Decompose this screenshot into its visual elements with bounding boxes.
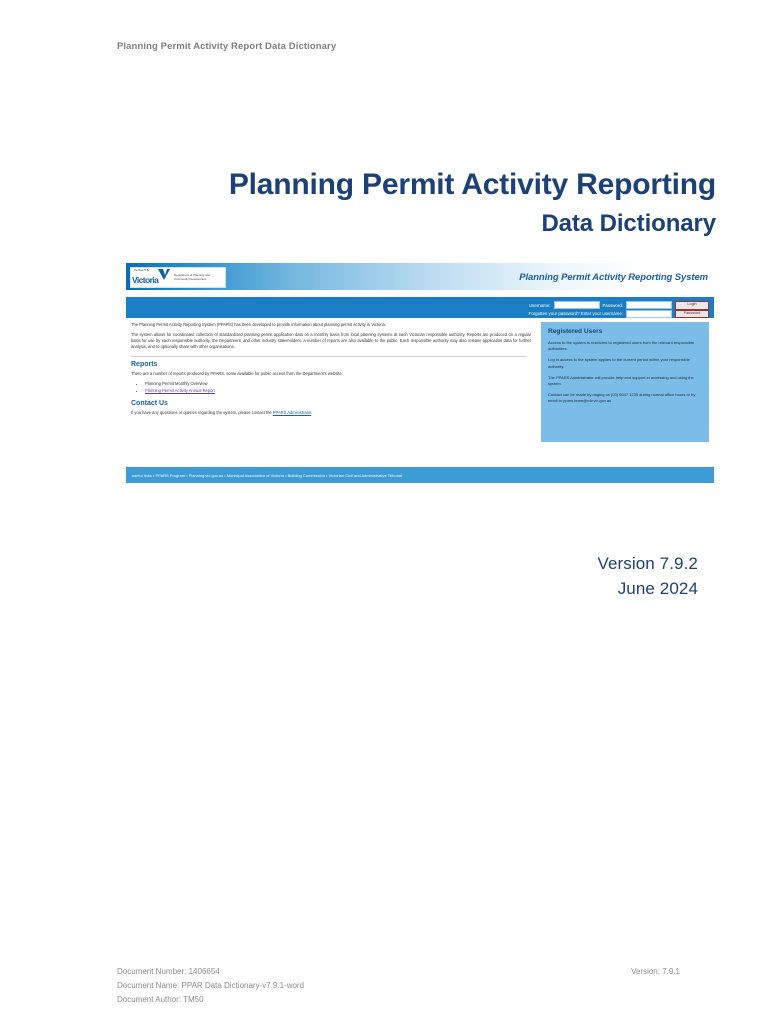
document-number-label: Document Number: (117, 967, 186, 976)
forgot-password-label: Forgotten your password? Enter your user… (529, 311, 623, 316)
reports-list: Planning Permit Monthly Overview Plannin… (131, 381, 531, 395)
login-button[interactable]: Login (675, 301, 709, 310)
app-system-title: Planning Permit Activity Reporting Syste… (519, 272, 708, 283)
registered-users-title: Registered Users (548, 328, 702, 335)
contact-text-before: If you have any questions or queries reg… (131, 410, 273, 415)
footer-version-label: Version: (631, 967, 660, 976)
list-item[interactable]: Planning Permit Activity Annual Report (145, 388, 531, 395)
footer-links[interactable]: useful links • PPARS Program • Planning.… (132, 473, 402, 478)
intro-paragraph: The Planning Permit Activity Reporting S… (131, 322, 531, 328)
ppars-administrator-link[interactable]: PPARS Administrator (273, 410, 311, 415)
running-header: Planning Permit Activity Report Data Dic… (117, 41, 336, 52)
login-row-forgot-password: Forgotten your password? Enter your user… (529, 310, 709, 319)
report-item-link[interactable]: Planning Permit Activity Annual Report (145, 388, 215, 393)
app-body: The Planning Permit Activity Reporting S… (126, 318, 714, 467)
embedded-app-screenshot: The Place To Be Victoria Department of P… (126, 263, 714, 491)
app-main-column: The Planning Permit Activity Reporting S… (131, 322, 531, 420)
app-banner: The Place To Be Victoria Department of P… (126, 263, 714, 290)
contact-heading: Contact Us (131, 400, 531, 407)
document-number-value: 1406654 (189, 967, 220, 976)
registered-users-panel: Registered Users Access to the system is… (541, 322, 709, 442)
contact-text-after: . (311, 410, 312, 415)
footer-row-document-name: Document Name: PPAR Data Dictionary-v7.9… (117, 979, 680, 993)
cover-version: Version 7.9.2 (118, 552, 698, 577)
victoria-logo-wordmark: Victoria (132, 276, 158, 285)
registered-users-paragraph: Log in access to the system applies to t… (548, 357, 702, 369)
contact-paragraph: If you have any questions or queries reg… (131, 410, 531, 416)
registered-users-paragraph: Access to the system is restricted to re… (548, 340, 702, 352)
footer-version: Version: 7.9.1 (631, 965, 680, 979)
footer-version-value: 7.9.1 (662, 967, 680, 976)
registered-users-paragraph: Contact can be made by ringing us (03) 9… (548, 392, 702, 404)
forgot-username-input[interactable] (626, 310, 672, 318)
page-footer: Document Number: 1406654 Version: 7.9.1 … (117, 965, 680, 1008)
report-item-label: Planning Permit Monthly Overview (145, 381, 208, 386)
reports-heading: Reports (131, 361, 531, 368)
document-name-label: Document Name: (117, 981, 179, 990)
footer-row-document-author: Document Author: TM50 (117, 993, 680, 1007)
cover-title-block: Planning Permit Activity Reporting Data … (118, 168, 716, 238)
victoria-government-logo: The Place To Be Victoria Department of P… (130, 267, 226, 288)
username-input[interactable] (554, 301, 600, 309)
victoria-logo-tagline: The Place To Be (134, 270, 149, 272)
password-label: Password: (603, 303, 624, 308)
banner-separator (126, 290, 714, 297)
page-subtitle: Data Dictionary (118, 210, 716, 239)
password-reset-button[interactable]: Password (675, 310, 709, 319)
section-divider (131, 356, 527, 357)
description-paragraph: The system allows for coordinated collec… (131, 332, 531, 350)
footer-row-document-number: Document Number: 1406654 Version: 7.9.1 (117, 965, 680, 979)
registered-users-paragraph: The PPARS Administrator will provide hel… (548, 375, 702, 387)
login-row-credentials: Username: Password: Login (529, 301, 709, 310)
document-author-label: Document Author: (117, 995, 181, 1004)
list-item: Planning Permit Monthly Overview (145, 381, 531, 388)
victoria-logo-mark: The Place To Be Victoria (132, 269, 172, 286)
document-name-value: PPAR Data Dictionary-v7.9.1-word (181, 981, 304, 990)
username-label: Username: (529, 303, 550, 308)
password-input[interactable] (626, 301, 672, 309)
department-name-label: Department of Planning and Community Dev… (174, 274, 220, 281)
app-footer-nav: useful links • PPARS Program • Planning.… (126, 467, 714, 483)
cover-date: June 2024 (118, 577, 698, 602)
login-bar: Username: Password: Login Forgotten your… (126, 297, 714, 318)
version-block: Version 7.9.2 June 2024 (118, 552, 698, 601)
reports-intro: There are a number of reports produced b… (131, 371, 531, 377)
page-title: Planning Permit Activity Reporting (118, 168, 716, 202)
document-author-value: TM50 (183, 995, 203, 1004)
victoria-chevron-inner-icon (163, 269, 167, 275)
